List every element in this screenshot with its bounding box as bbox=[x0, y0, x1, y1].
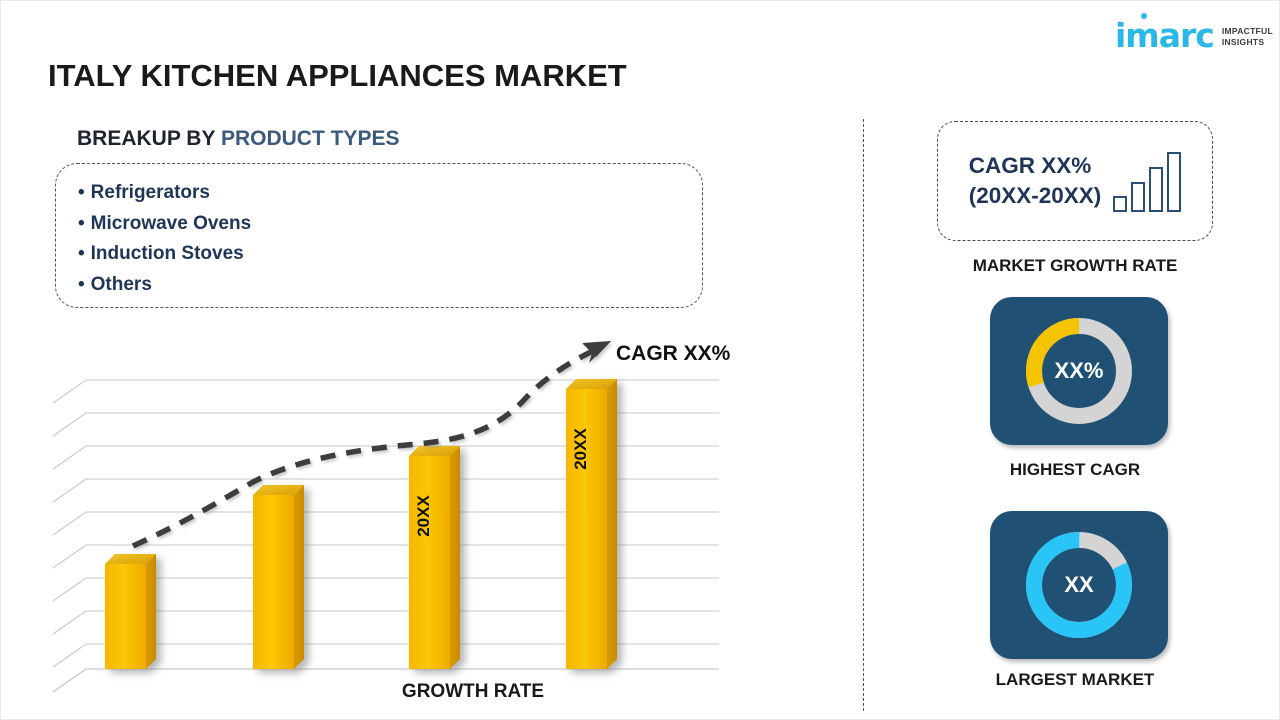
ascending-bars-icon bbox=[1113, 150, 1181, 212]
highest-cagr-value: XX% bbox=[1021, 313, 1137, 429]
chart-canvas: 20XX 20XX bbox=[48, 331, 748, 711]
bar-1-side bbox=[146, 554, 156, 669]
bar-1-front bbox=[105, 564, 146, 669]
bar-3-label: 20XX bbox=[414, 495, 433, 537]
list-item-label: Others bbox=[91, 274, 152, 295]
bar-3-front bbox=[409, 456, 450, 669]
cagr-line2: (20XX-20XX) bbox=[969, 181, 1102, 211]
logo-tagline-line1: IMPACTFUL bbox=[1222, 26, 1273, 36]
imarc-logo: imarc IMPACTFUL INSIGHTS bbox=[1115, 13, 1265, 51]
bar-2-front bbox=[253, 495, 294, 669]
largest-market-tile: XX bbox=[990, 511, 1168, 659]
bullet-icon: • bbox=[78, 213, 85, 234]
market-growth-rate-caption: MARKET GROWTH RATE bbox=[905, 256, 1245, 276]
bar-4-side bbox=[607, 379, 617, 669]
highest-cagr-donut: XX% bbox=[1021, 313, 1137, 429]
largest-market-donut: XX bbox=[1021, 527, 1137, 643]
largest-market-caption: LARGEST MARKET bbox=[905, 670, 1245, 690]
bullet-icon: • bbox=[78, 274, 85, 295]
page-title: ITALY KITCHEN APPLIANCES MARKET bbox=[48, 58, 627, 94]
bullet-icon: • bbox=[78, 182, 85, 203]
list-item: •Induction Stoves bbox=[78, 239, 702, 270]
list-item: •Refrigerators bbox=[78, 178, 702, 209]
bar-2 bbox=[253, 485, 304, 669]
largest-market-value: XX bbox=[1021, 527, 1137, 643]
list-item: •Others bbox=[78, 270, 702, 301]
market-growth-rate-box: CAGR XX% (20XX-20XX) bbox=[937, 121, 1213, 241]
breakup-heading: BREAKUP BY PRODUCT TYPES bbox=[77, 127, 399, 151]
bullet-icon: • bbox=[78, 243, 85, 264]
product-types-box: •Refrigerators •Microwave Ovens •Inducti… bbox=[55, 163, 703, 308]
panel-divider bbox=[863, 119, 864, 711]
list-item-label: Induction Stoves bbox=[91, 243, 244, 264]
breakup-highlight: PRODUCT TYPES bbox=[221, 127, 400, 150]
trend-line bbox=[133, 341, 611, 546]
bar-4-label: 20XX bbox=[571, 428, 590, 470]
cagr-line1: CAGR XX% bbox=[969, 151, 1102, 181]
logo-wordmark: imarc bbox=[1115, 21, 1214, 51]
list-item-label: Refrigerators bbox=[91, 182, 210, 203]
growth-bar-chart: 20XX 20XX CAGR XX% GROWTH RATE bbox=[48, 331, 748, 711]
infographic-page: imarc IMPACTFUL INSIGHTS ITALY KITCHEN A… bbox=[0, 0, 1280, 720]
logo-tagline-line2: INSIGHTS bbox=[1222, 37, 1265, 47]
list-item: •Microwave Ovens bbox=[78, 209, 702, 240]
highest-cagr-tile: XX% bbox=[990, 297, 1168, 445]
bar-1 bbox=[105, 554, 156, 669]
bar-2-side bbox=[294, 485, 304, 669]
cagr-text: CAGR XX% (20XX-20XX) bbox=[969, 151, 1102, 211]
chart-cagr-annotation: CAGR XX% bbox=[616, 342, 730, 366]
chart-axis-caption: GROWTH RATE bbox=[348, 681, 598, 703]
list-item-label: Microwave Ovens bbox=[91, 213, 252, 234]
bar-3 bbox=[409, 446, 460, 669]
logo-dot-icon bbox=[1141, 13, 1147, 19]
bar-3-side bbox=[450, 446, 460, 669]
bar-4 bbox=[566, 379, 617, 669]
breakup-prefix: BREAKUP BY bbox=[77, 127, 221, 150]
logo-tagline: IMPACTFUL INSIGHTS bbox=[1222, 26, 1273, 48]
highest-cagr-caption: HIGHEST CAGR bbox=[905, 460, 1245, 480]
